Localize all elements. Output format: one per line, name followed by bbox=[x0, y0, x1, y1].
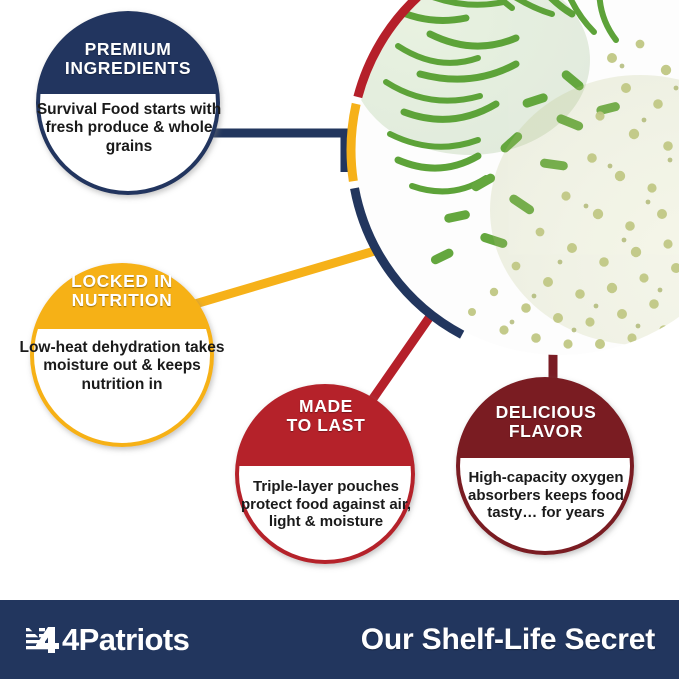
infographic-canvas: PREMIUM INGREDIENTS Survival Food starts… bbox=[0, 0, 679, 679]
connector-locked bbox=[168, 243, 378, 312]
bottom-banner: 4Patriots Our Shelf-Life Secret bbox=[0, 600, 679, 679]
callout-premium-ingredients[interactable] bbox=[36, 11, 220, 214]
callout-made-to-last[interactable] bbox=[235, 384, 415, 584]
infographic-artwork bbox=[0, 0, 679, 679]
brand-name: 4Patriots bbox=[62, 624, 189, 655]
hero-circle bbox=[350, 0, 679, 360]
callout-locked-in-nutrition[interactable] bbox=[30, 263, 214, 455]
connector-premium bbox=[200, 133, 345, 172]
brand-logo[interactable]: 4Patriots bbox=[26, 624, 189, 655]
callout-delicious-flavor[interactable] bbox=[456, 377, 634, 576]
banner-headline: Our Shelf-Life Secret bbox=[361, 625, 655, 655]
flag-four-logo-icon bbox=[26, 625, 60, 655]
